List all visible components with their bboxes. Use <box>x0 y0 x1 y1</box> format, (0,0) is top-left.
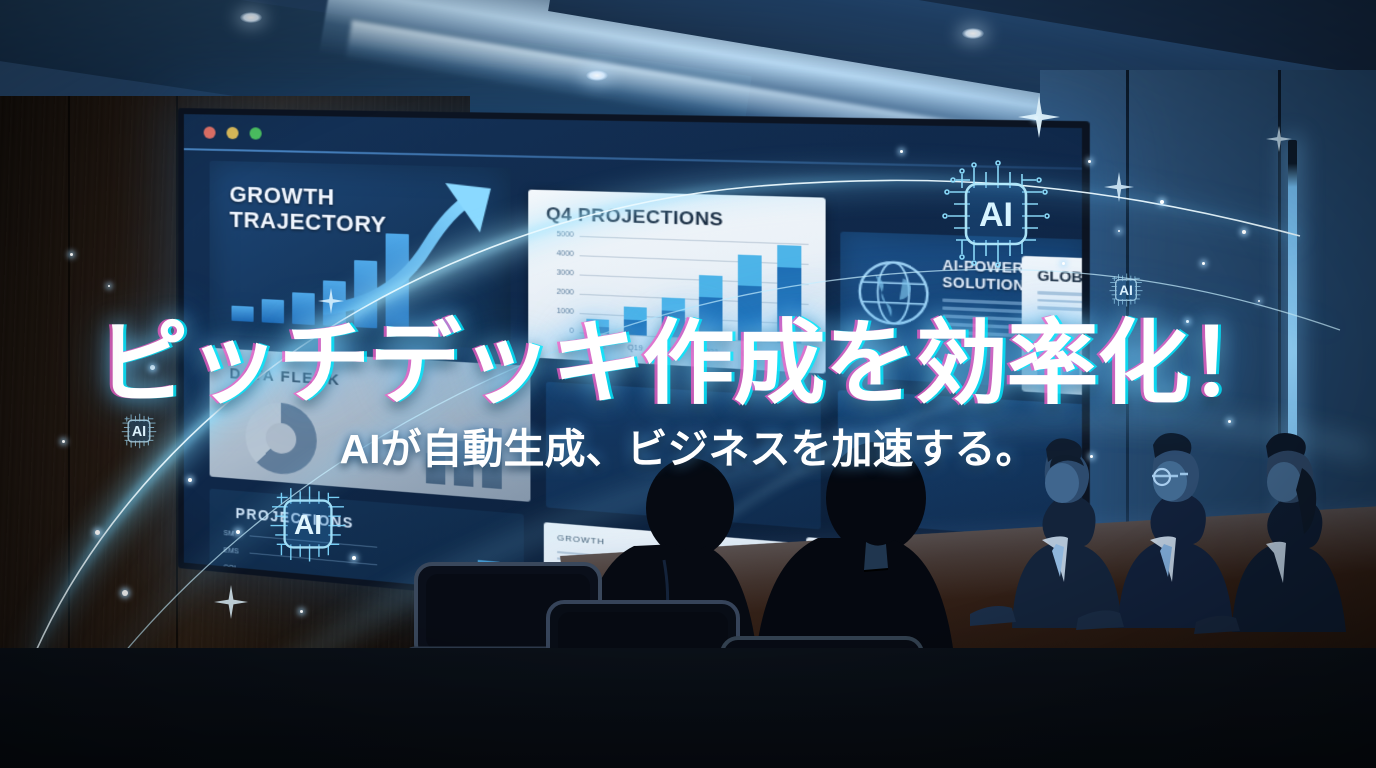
slide-title-global-reach: GLOBAL REACH <box>1037 268 1090 289</box>
downlight-2 <box>586 70 608 81</box>
minimize-icon[interactable] <box>227 127 239 139</box>
row-label: SM <box>224 530 244 539</box>
maximize-icon[interactable] <box>250 127 262 139</box>
list-item: EMS <box>224 547 378 568</box>
y-tick: 5000 <box>557 231 574 239</box>
page-title: ピッチデッキ作成を効率化！ <box>0 318 1376 410</box>
slide-title-q4: Q4 PROJECTIONS <box>546 204 724 231</box>
y-tick: 4000 <box>557 250 574 258</box>
boardroom-hero-scene: GROWTH TRAJECTORY Q4 PROJECTIONS <box>0 0 1376 768</box>
list-item: SM <box>224 530 378 551</box>
y-tick: 2000 <box>557 288 574 296</box>
row-label: EMS <box>224 547 244 556</box>
window-traffic-lights[interactable] <box>204 126 262 139</box>
downlight-3 <box>962 28 984 39</box>
y-tick: 3000 <box>557 269 574 277</box>
downlight-1 <box>240 12 262 23</box>
page-subtitle: AIが自動生成、ビジネスを加速する。 <box>0 415 1376 475</box>
close-icon[interactable] <box>204 126 216 138</box>
slide-title-projections: PROJECTIONS <box>236 505 354 531</box>
floor <box>0 648 1376 768</box>
row-label: COL <box>224 564 244 573</box>
